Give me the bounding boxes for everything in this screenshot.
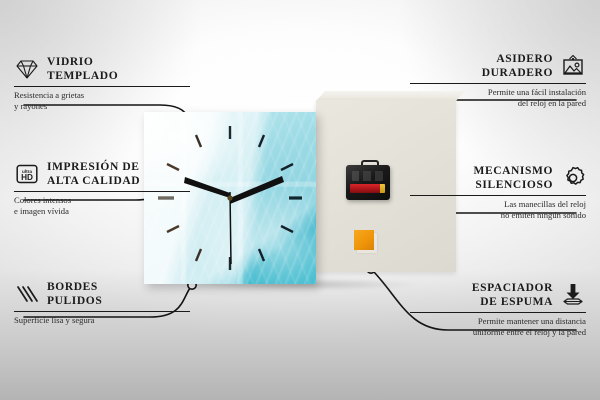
foam-spacer: [354, 230, 374, 250]
feature-vidrio-templado: VIDRIO TEMPLADO Resistencia a grietas y …: [14, 55, 190, 112]
feature-head: ASIDERO DURADERO: [410, 52, 586, 80]
feature-title: ESPACIADOR DE ESPUMA: [472, 281, 553, 309]
feature-rule: [14, 191, 190, 192]
diamond-icon: [14, 56, 40, 82]
feature-title: VIDRIO TEMPLADO: [47, 55, 118, 83]
wall-hanger-frame-icon: [560, 53, 586, 79]
feature-espaciador-de-espuma: ESPACIADOR DE ESPUMA Permite mantener un…: [410, 281, 586, 338]
feature-head: ESPACIADOR DE ESPUMA: [410, 281, 586, 309]
feature-rule: [410, 83, 586, 84]
movement-battery-tip: [380, 184, 385, 193]
feature-description: Permite mantener una distancia uniforme …: [410, 316, 586, 338]
feature-description: Colores intensos e imagen vívida: [14, 195, 190, 217]
clock-movement: [346, 160, 390, 200]
clock-second-hand: [230, 192, 231, 264]
feature-rule: [14, 86, 190, 87]
feature-impresion-alta-calidad: ultra HD IMPRESIÓN DE ALTA CALIDAD Color…: [14, 160, 190, 217]
feature-title: MECANISMO SILENCIOSO: [473, 164, 553, 192]
feature-head: BORDES PULIDOS: [14, 280, 190, 308]
gear-icon: [560, 165, 586, 191]
foam-spacer-arrow-icon: [560, 282, 586, 308]
feature-head: ultra HD IMPRESIÓN DE ALTA CALIDAD: [14, 160, 190, 188]
svg-text:HD: HD: [21, 173, 33, 182]
feature-mecanismo-silencioso: MECANISMO SILENCIOSO Las manecillas del …: [410, 164, 586, 221]
feature-title: ASIDERO DURADERO: [482, 52, 553, 80]
feature-description: Las manecillas del reloj no emiten ningú…: [410, 199, 586, 221]
feature-description: Superficie lisa y segura: [14, 315, 190, 326]
movement-surface-detail: [352, 171, 383, 181]
clock-center-cap: [227, 195, 232, 200]
feature-rule: [14, 311, 190, 312]
feature-title: IMPRESIÓN DE ALTA CALIDAD: [47, 160, 140, 188]
feature-bordes-pulidos: BORDES PULIDOS Superficie lisa y segura: [14, 280, 190, 326]
feature-head: MECANISMO SILENCIOSO: [410, 164, 586, 192]
clock-hour-hand: [184, 177, 230, 198]
feature-description: Resistencia a grietas y rayones: [14, 90, 190, 112]
feature-rule: [410, 195, 586, 196]
feature-rule: [410, 312, 586, 313]
feature-asidero-duradero: ASIDERO DURADERO Permite una fácil insta…: [410, 52, 586, 109]
feature-title: BORDES PULIDOS: [47, 280, 102, 308]
clock-minute-hand: [230, 176, 284, 204]
polished-edges-icon: [14, 281, 40, 307]
product-feature-infographic: VIDRIO TEMPLADO Resistencia a grietas y …: [0, 0, 600, 400]
feature-description: Permite una fácil instalación del reloj …: [410, 87, 586, 109]
feature-head: VIDRIO TEMPLADO: [14, 55, 190, 83]
ultra-hd-icon: ultra HD: [14, 161, 40, 187]
